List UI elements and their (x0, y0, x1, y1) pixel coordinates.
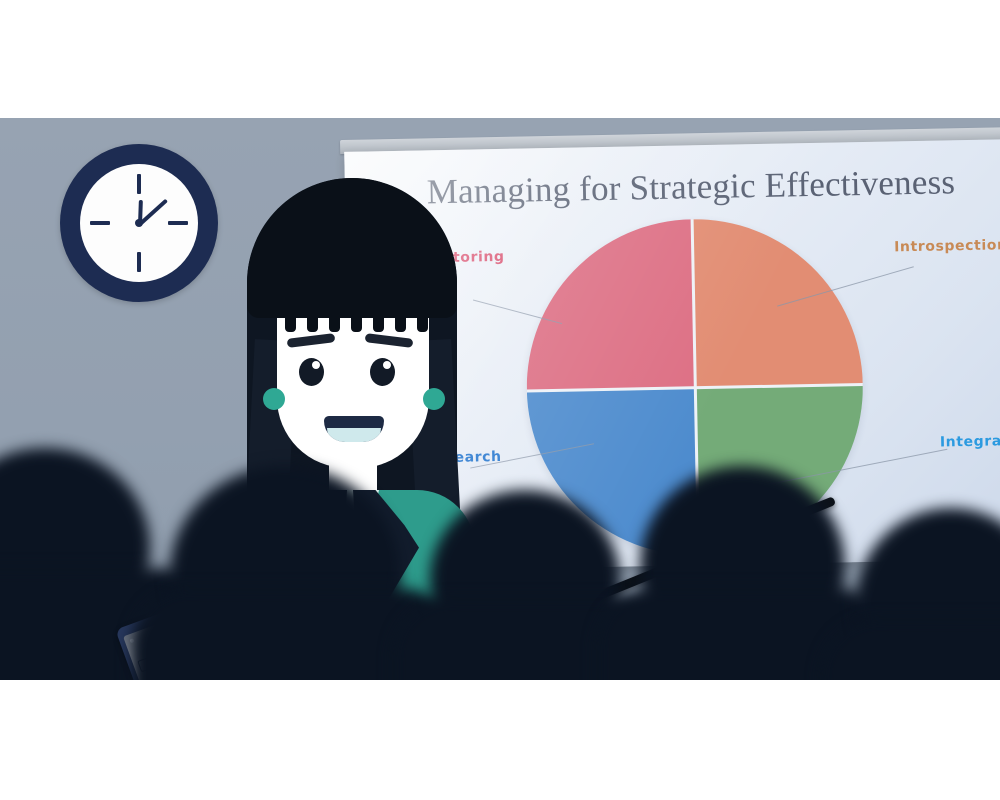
bang-tooth (351, 310, 362, 332)
eye-highlight (383, 361, 391, 369)
eye-right (370, 358, 395, 386)
clock-tick-3 (168, 221, 188, 225)
bang-tooth (329, 310, 340, 332)
earring-right (423, 388, 445, 410)
clock-tick-6 (137, 252, 141, 272)
mouth (324, 416, 384, 442)
bang-tooth (417, 310, 428, 332)
clock-center-pin (135, 219, 143, 227)
earring-left (263, 388, 285, 410)
illustration-canvas: Managing for Strategic Effectiveness (0, 0, 1000, 800)
pie-label-integration: Integration (940, 433, 1000, 451)
presentation-scene: Managing for Strategic Effectiveness (0, 118, 1000, 680)
clock-face (80, 164, 198, 282)
pie-label-introspection: Introspection (894, 237, 1000, 255)
letterbox-top (0, 0, 1000, 118)
wall-clock (60, 144, 218, 302)
clock-tick-12 (137, 174, 141, 194)
letterbox-bottom (0, 680, 1000, 800)
bang-tooth (395, 310, 406, 332)
audience-member-body (820, 618, 1000, 680)
hair-bangs (247, 178, 457, 318)
eye-left (299, 358, 324, 386)
bang-tooth (285, 310, 296, 332)
clock-tick-9 (90, 221, 110, 225)
bang-tooth (373, 310, 384, 332)
teeth (327, 428, 381, 442)
eye-highlight (312, 361, 320, 369)
pie-slice-introspection (692, 216, 863, 387)
bang-tooth (307, 310, 318, 332)
